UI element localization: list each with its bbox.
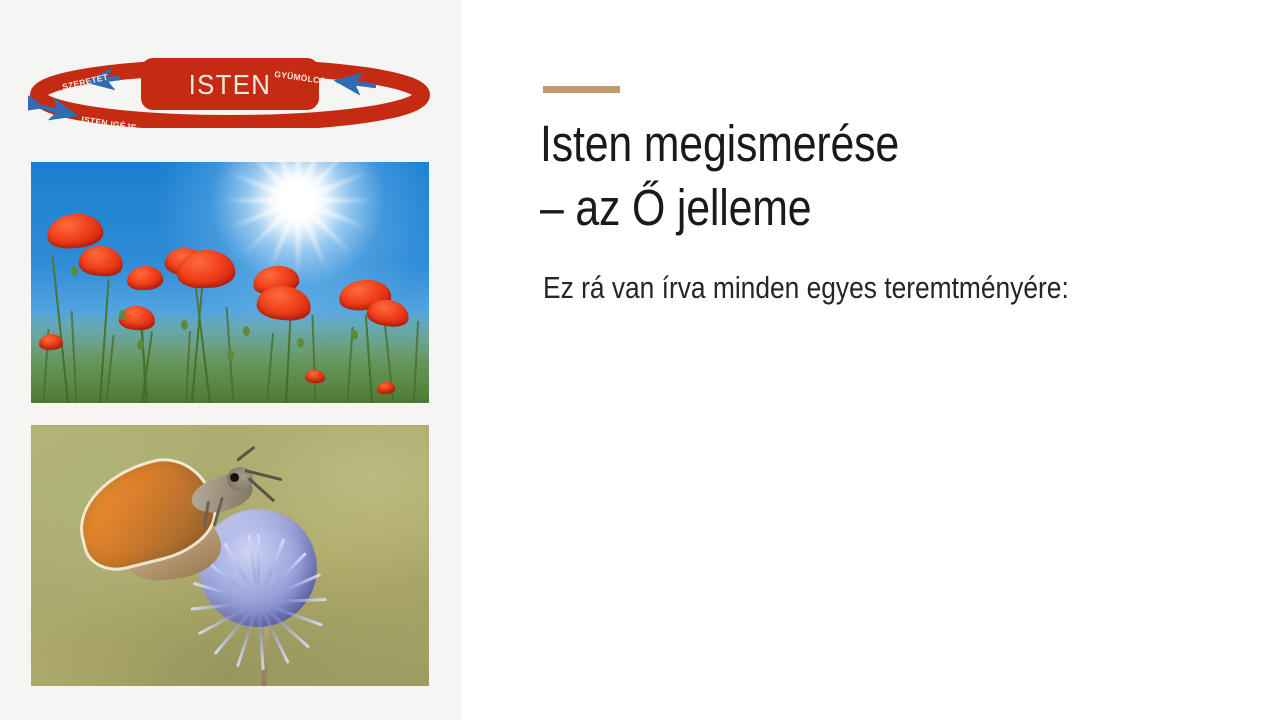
poppy-bud <box>71 266 78 276</box>
poppy-bud <box>137 340 144 350</box>
blue-flower-head <box>199 509 317 627</box>
isten-center-label: ISTEN <box>189 69 272 100</box>
flower-spike <box>203 559 258 603</box>
page-title: Isten megismerése – az Ő jelleme <box>540 112 1120 240</box>
title-accent-bar <box>543 86 620 93</box>
poppy-bud <box>297 338 304 348</box>
isten-cycle-diagram: ISTEN SZERETET ISTEN IGÉJE GYÜMÖLCS <box>28 52 432 128</box>
image-poppy-field <box>31 162 429 403</box>
left-media-panel: ISTEN SZERETET ISTEN IGÉJE GYÜMÖLCS <box>0 0 461 720</box>
poppy-bud <box>351 330 358 340</box>
butterfly-eye <box>230 473 239 482</box>
flower-spike <box>257 552 306 603</box>
slide-subtitle: Ez rá van írva minden egyes teremtményér… <box>543 268 1138 308</box>
presentation-slide: ISTEN SZERETET ISTEN IGÉJE GYÜMÖLCS <box>0 0 1280 720</box>
poppy-bloom <box>39 333 64 350</box>
poppy-bud <box>227 350 234 360</box>
image-butterfly-on-flower <box>31 425 429 686</box>
sun-ray <box>295 162 300 276</box>
title-block: Isten megismerése – az Ő jelleme <box>540 112 1230 240</box>
poppy-bud <box>181 320 188 330</box>
poppy-bud <box>119 310 126 320</box>
poppy-bud <box>243 326 250 336</box>
